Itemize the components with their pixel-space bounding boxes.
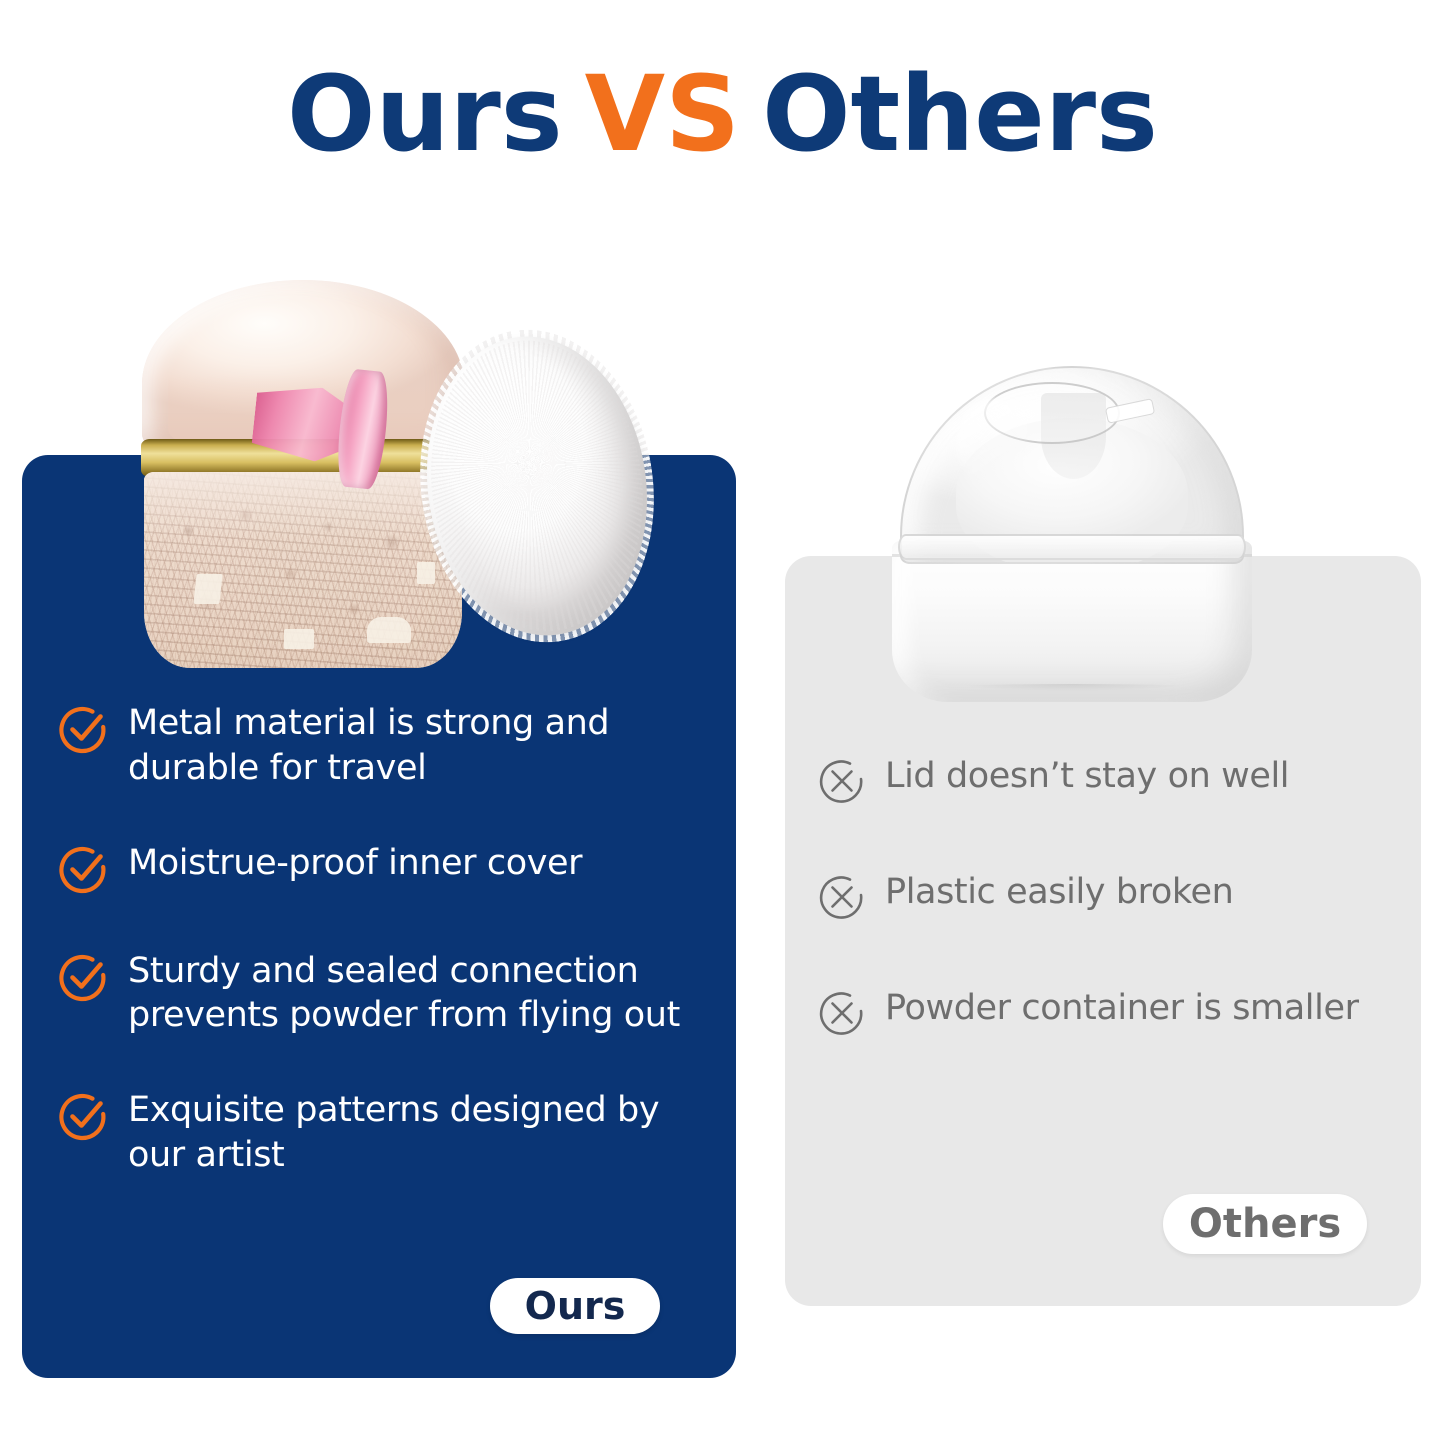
page-title: OursVSOthers: [0, 62, 1445, 166]
comparison-graphic: OursVSOthers: [0, 0, 1445, 1445]
list-item: Powder container is smaller: [817, 986, 1405, 1042]
list-item-label: Exquisite patterns designed by our artis…: [128, 1088, 722, 1178]
list-item: Moistrue-proof inner cover: [58, 841, 722, 899]
list-item: Plastic easily broken: [817, 870, 1405, 926]
check-circle-icon: [58, 951, 110, 1007]
status-badge-others: Others: [1163, 1194, 1367, 1254]
others-feature-list: Lid doesn’t stay on well Plastic easily …: [785, 556, 1421, 1042]
list-item-label: Moistrue-proof inner cover: [128, 841, 582, 886]
list-item-label: Powder container is smaller: [885, 986, 1359, 1031]
list-item-label: Lid doesn’t stay on well: [885, 754, 1289, 799]
list-item-label: Metal material is strong and durable for…: [128, 701, 722, 791]
title-word-vs: VS: [585, 62, 740, 166]
x-circle-icon: [817, 872, 867, 926]
x-circle-icon: [817, 988, 867, 1042]
title-word-others: Others: [762, 62, 1158, 166]
ours-feature-list: Metal material is strong and durable for…: [22, 455, 736, 1178]
check-circle-icon: [58, 1090, 110, 1146]
dome-gloss-icon: [956, 399, 1031, 488]
status-badge-ours: Ours: [490, 1278, 660, 1334]
list-item: Lid doesn’t stay on well: [817, 754, 1405, 810]
list-item: Metal material is strong and durable for…: [58, 701, 722, 791]
list-item: Exquisite patterns designed by our artis…: [58, 1088, 722, 1178]
check-circle-icon: [58, 843, 110, 899]
list-item-label: Sturdy and sealed connection prevents po…: [128, 949, 722, 1039]
list-item: Sturdy and sealed connection prevents po…: [58, 949, 722, 1039]
check-circle-icon: [58, 703, 110, 759]
title-word-ours: Ours: [287, 62, 563, 166]
x-circle-icon: [817, 756, 867, 810]
list-item-label: Plastic easily broken: [885, 870, 1233, 915]
